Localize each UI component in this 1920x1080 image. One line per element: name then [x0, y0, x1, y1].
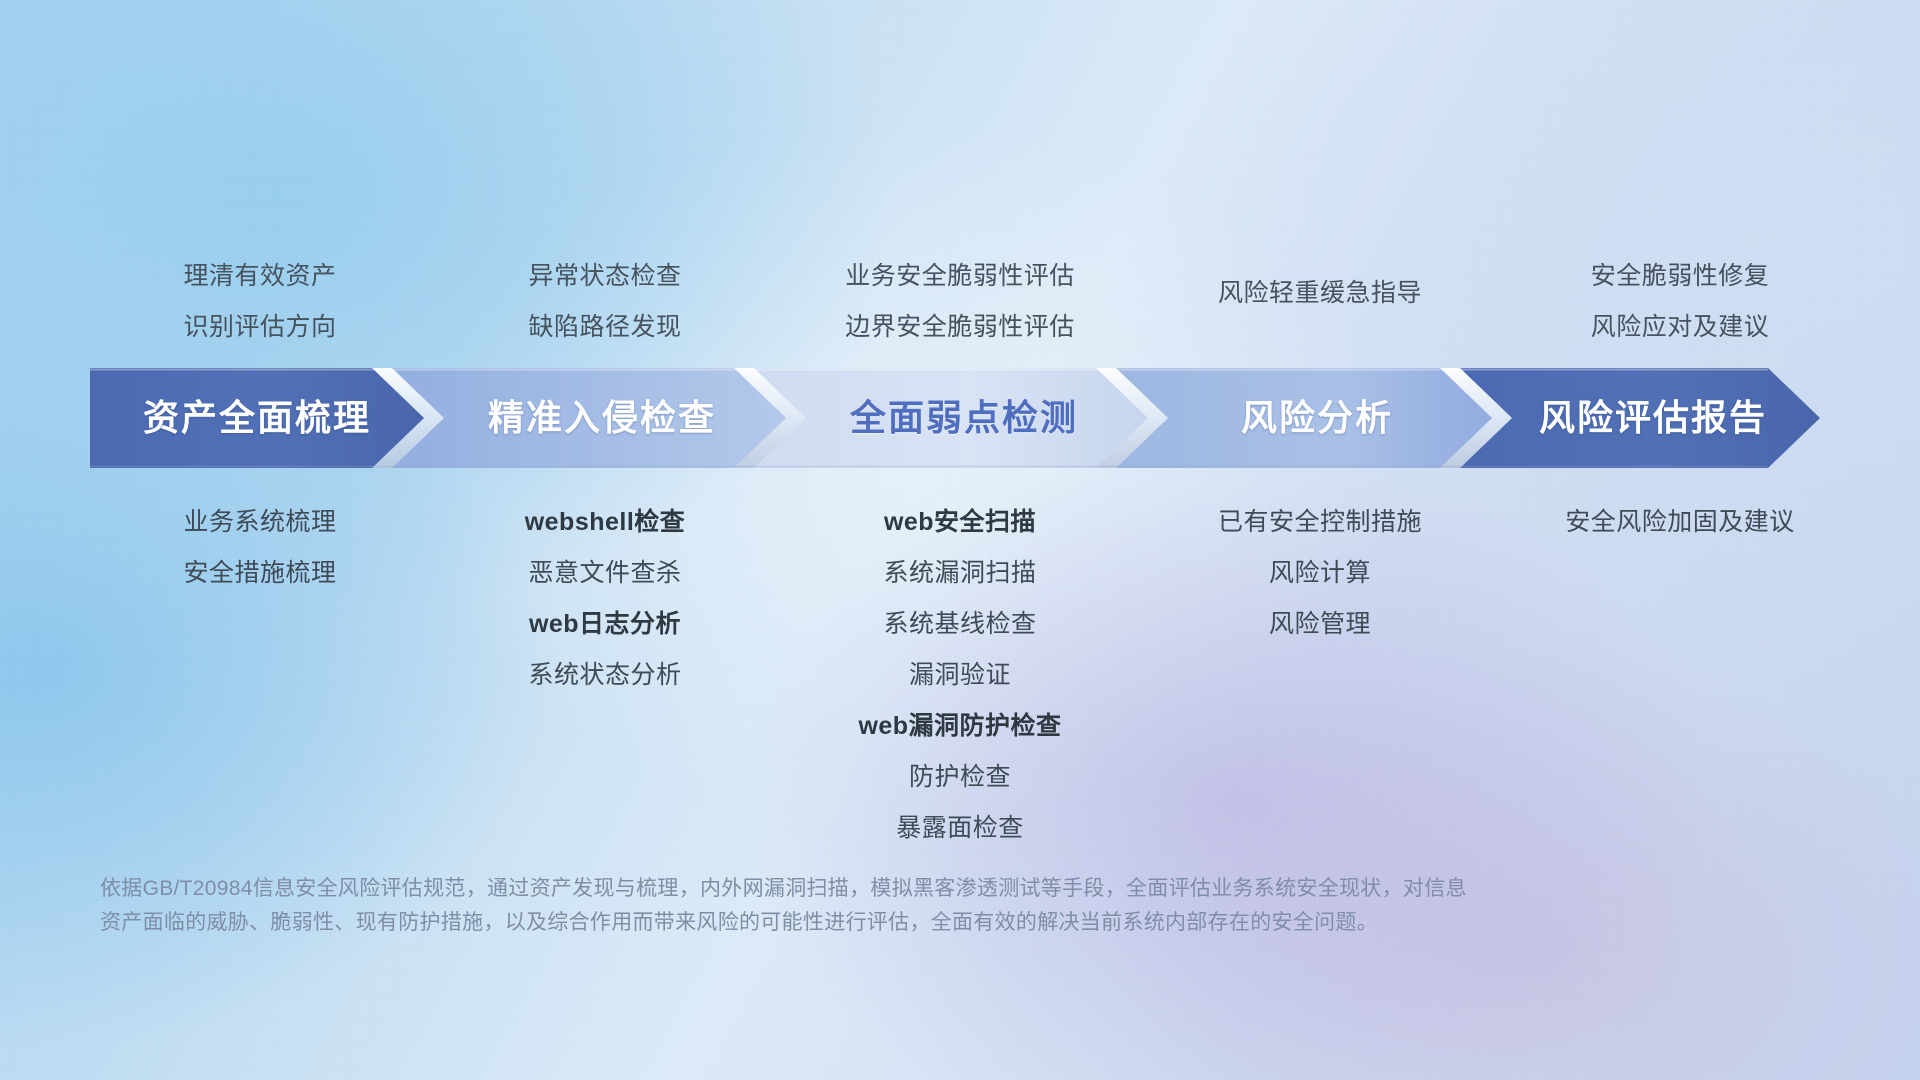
stage-column-1-top: 理清有效资产 识别评估方向	[60, 180, 460, 340]
list-item: 安全脆弱性修复	[1460, 264, 1900, 289]
list-item: 识别评估方向	[60, 315, 460, 340]
list-item: 漏洞验证	[740, 663, 1180, 688]
arrow-segment-3	[754, 368, 1148, 468]
footer-line-2: 资产面临的威胁、脆弱性、现有防护措施，以及综合作用而带来风险的可能性进行评估，全…	[100, 906, 1660, 940]
stage-1-top-list: 理清有效资产 识别评估方向	[60, 264, 460, 340]
list-item: web漏洞防护检查	[740, 714, 1180, 739]
stage-5-top-list: 安全脆弱性修复 风险应对及建议	[1460, 264, 1900, 340]
list-item: 安全风险加固及建议	[1460, 510, 1900, 535]
arrow-segment-1	[90, 368, 424, 468]
list-item: 安全措施梳理	[60, 561, 460, 586]
list-item: 风险管理	[1100, 612, 1540, 637]
footer-line-1: 依据GB/T20984信息安全风险评估规范，通过资产发现与梳理，内外网漏洞扫描，…	[100, 872, 1660, 906]
stage-5-bottom-list: 安全风险加固及建议	[1460, 510, 1900, 535]
arrow-segment-4	[1116, 368, 1492, 468]
process-diagram: 资产全面梳理 精准入侵检查 全面弱点检测 风险分析 风险评估报告 理清有效资产 …	[0, 0, 1920, 1080]
footer-description: 依据GB/T20984信息安全风险评估规范，通过资产发现与梳理，内外网漏洞扫描，…	[100, 872, 1660, 940]
list-item: 暴露面检查	[740, 816, 1180, 841]
list-item: 风险应对及建议	[1460, 315, 1900, 340]
stage-arrow-band	[0, 368, 1920, 468]
list-item: 业务系统梳理	[60, 510, 460, 535]
arrow-segment-2	[392, 368, 786, 468]
list-item: 风险计算	[1100, 561, 1540, 586]
arrow-segment-5	[1460, 368, 1820, 468]
list-item: 防护检查	[740, 765, 1180, 790]
list-item: 理清有效资产	[60, 264, 460, 289]
stage-1-bottom-list: 业务系统梳理 安全措施梳理	[60, 510, 460, 586]
stage-column-5-top: 安全脆弱性修复 风险应对及建议	[1460, 180, 1900, 340]
